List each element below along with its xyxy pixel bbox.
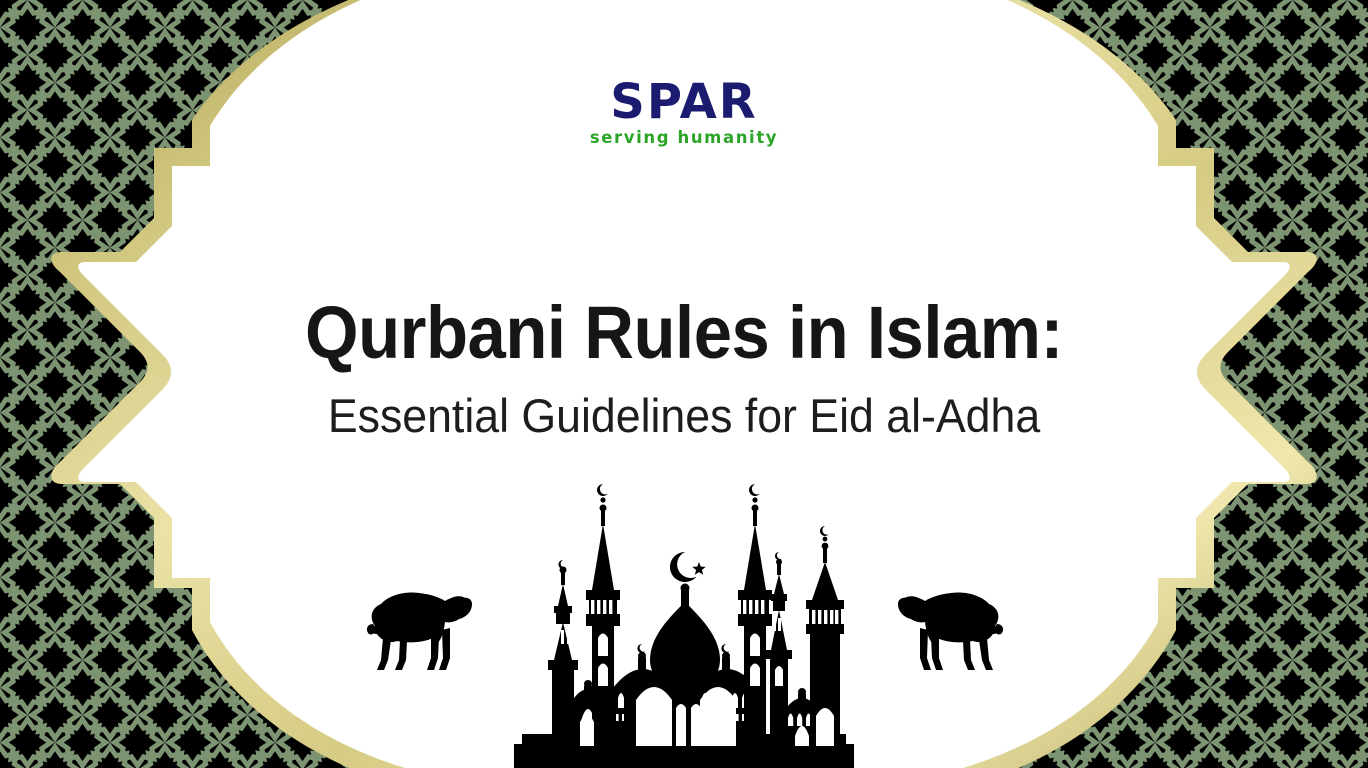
sheep-silhouette-icon	[355, 574, 475, 674]
poster-content: SPAR serving humanity Qurbani Rules in I…	[0, 0, 1368, 768]
poster-canvas: SPAR serving humanity Qurbani Rules in I…	[0, 0, 1368, 768]
headline-block: Qurbani Rules in Islam: Essential Guidel…	[0, 296, 1368, 439]
logo-tagline: serving humanity	[0, 130, 1368, 147]
page-title: Qurbani Rules in Islam:	[48, 296, 1320, 370]
logo-wordmark: SPAR	[0, 78, 1368, 126]
spar-logo[interactable]: SPAR serving humanity	[0, 78, 1368, 147]
page-subtitle: Essential Guidelines for Eid al-Adha	[34, 392, 1334, 439]
mosque-silhouette-icon	[514, 472, 854, 768]
sheep-silhouette-icon	[895, 574, 1015, 674]
